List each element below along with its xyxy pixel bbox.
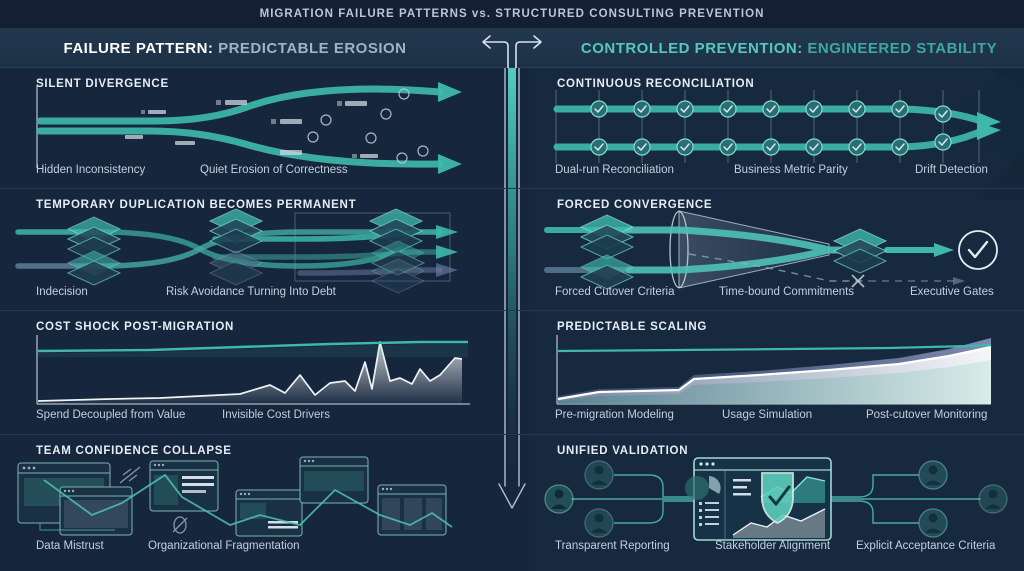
- divergence-arrows: [470, 28, 554, 68]
- infographic-root: MIGRATION FAILURE PATTERNS vs. STRUCTURE…: [0, 0, 1024, 571]
- caption: Executive Gates: [910, 286, 994, 298]
- panel-team-confidence-collapse: TEAM CONFIDENCE COLLAPSE Data Mistrust O…: [0, 435, 495, 571]
- left-column-title: FAILURE PATTERN: PREDICTABLE EROSION: [0, 28, 470, 68]
- right-column-title: CONTROLLED PREVENTION: ENGINEERED STABIL…: [554, 28, 1024, 68]
- caption: Invisible Cost Drivers: [222, 409, 330, 421]
- panel-title: TEAM CONFIDENCE COLLAPSE: [36, 445, 232, 457]
- caption: Data Mistrust: [36, 540, 104, 552]
- panel-silent-divergence: SILENT DIVERGENCE Hidden Inconsistency Q…: [0, 68, 495, 188]
- caption: Quiet Erosion of Correctness: [200, 164, 348, 176]
- caption: Explicit Acceptance Criteria: [856, 540, 995, 552]
- panel-forced-convergence: FORCED CONVERGENCE Forced Cutover Criter…: [529, 189, 1024, 310]
- caption: Hidden Inconsistency: [36, 164, 145, 176]
- panel-title: CONTINUOUS RECONCILIATION: [557, 78, 754, 90]
- panel-title: TEMPORARY DUPLICATION BECOMES PERMANENT: [36, 199, 356, 211]
- caption: Organizational Fragmentation: [148, 540, 300, 552]
- right-title-suffix: ENGINEERED STABILITY: [807, 40, 997, 57]
- panel-title: UNIFIED VALIDATION: [557, 445, 688, 457]
- caption: Pre-migration Modeling: [555, 409, 674, 421]
- center-spine: [495, 68, 529, 571]
- arrow-down-icon: [499, 484, 525, 508]
- caption: Time-bound Commitments: [719, 286, 854, 298]
- caption: Transparent Reporting: [555, 540, 670, 552]
- caption: Dual-run Reconciliation: [555, 164, 674, 176]
- panel-title: SILENT DIVERGENCE: [36, 78, 169, 90]
- caption: Indecision: [36, 286, 88, 298]
- left-title-prefix: FAILURE PATTERN:: [63, 40, 213, 57]
- server-stack-icons: [68, 209, 424, 293]
- caption: Drift Detection: [915, 164, 988, 176]
- drift-markers: [308, 89, 428, 163]
- caption: Post-cutover Monitoring: [866, 409, 987, 421]
- banner-title-bar: MIGRATION FAILURE PATTERNS vs. STRUCTURE…: [0, 0, 1024, 28]
- panel-title: PREDICTABLE SCALING: [557, 321, 707, 333]
- panel-title: FORCED CONVERGENCE: [557, 199, 712, 211]
- caption: Forced Cutover Criteria: [555, 286, 675, 298]
- caption: Business Metric Parity: [734, 164, 848, 176]
- panel-unified-validation: UNIFIED VALIDATION Transparent Reporting…: [529, 435, 1024, 571]
- right-title-prefix: CONTROLLED PREVENTION:: [581, 40, 803, 57]
- caption: Usage Simulation: [722, 409, 812, 421]
- panel-continuous-reconciliation: CONTINUOUS RECONCILIATION Dual-run Recon…: [529, 68, 1024, 188]
- panel-title: COST SHOCK POST-MIGRATION: [36, 321, 234, 333]
- panel-cost-shock: COST SHOCK POST-MIGRATION Spend Decouple…: [0, 311, 495, 434]
- panel-temporary-duplication: TEMPORARY DUPLICATION BECOMES PERMANENT …: [0, 189, 495, 310]
- dashboard-window-icon: [685, 458, 831, 540]
- left-title-suffix: PREDICTABLE EROSION: [218, 40, 406, 57]
- panel-predictable-scaling: PREDICTABLE SCALING Pre-migration Modeli…: [529, 311, 1024, 434]
- banner-title: MIGRATION FAILURE PATTERNS vs. STRUCTURE…: [260, 8, 765, 20]
- caption: Risk Avoidance Turning Into Debt: [166, 286, 336, 298]
- caption: Stakeholder Alignment: [715, 540, 830, 552]
- caption: Spend Decoupled from Value: [36, 409, 185, 421]
- executive-gate-check-icon: [959, 231, 997, 269]
